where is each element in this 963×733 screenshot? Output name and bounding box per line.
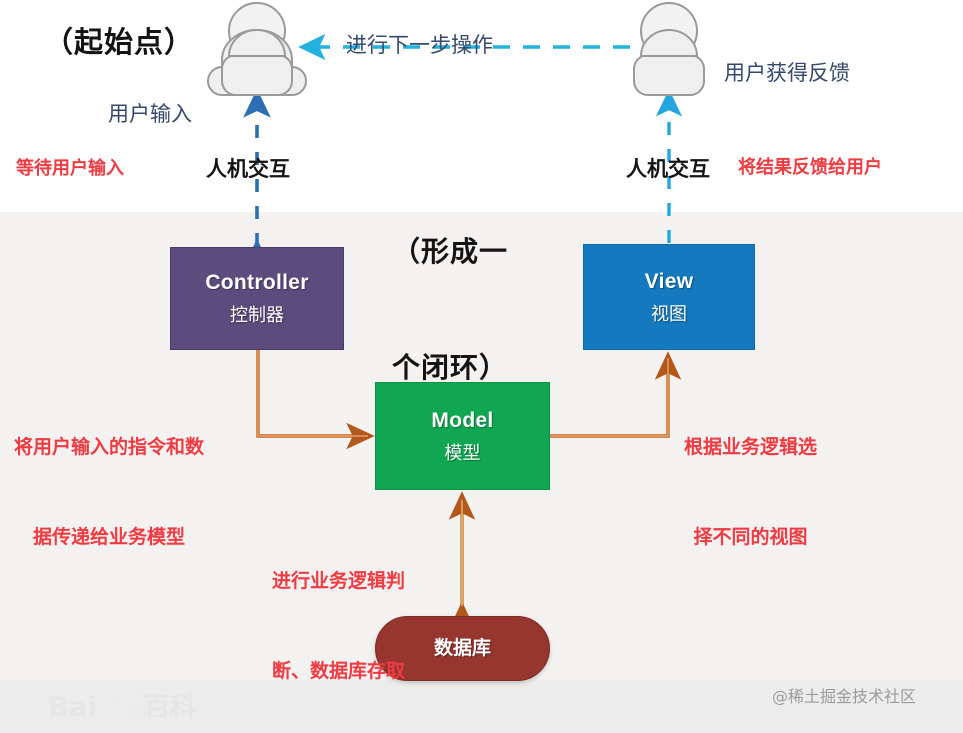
label-controller-to-model-line2: 据传递给业务模型	[14, 524, 204, 550]
node-controller[interactable]: Controller 控制器	[170, 247, 344, 350]
label-user-gets-feedback: 用户获得反馈	[724, 59, 850, 88]
baidu-baike-watermark: Bai 百科	[26, 664, 218, 733]
baidu-paw-icon: Bai 百科	[46, 686, 218, 730]
label-controller-to-model: 将用户输入的指令和数 据传递给业务模型	[14, 382, 204, 603]
database-label: 数据库	[434, 638, 491, 659]
view-subtitle: 视图	[651, 305, 687, 325]
svg-text:百科: 百科	[144, 693, 196, 723]
diagram-canvas: Controller 控制器 View 视图 Model 模型 数据库 （起始点…	[0, 0, 963, 733]
label-wait-for-user-input: 等待用户输入	[16, 157, 124, 182]
label-hci-right: 人机交互	[626, 155, 710, 184]
label-result-feedback-to-user: 将结果反馈给用户	[738, 156, 882, 181]
label-model-to-database: 进行业务逻辑判 断、数据库存取	[272, 516, 405, 733]
label-hci-left: 人机交互	[206, 155, 290, 184]
label-closed-loop: （形成一 个闭环）	[392, 156, 508, 465]
node-view[interactable]: View 视图	[583, 244, 755, 350]
controller-title: Controller	[205, 271, 308, 294]
label-next-step-operation: 进行下一步操作	[346, 31, 493, 60]
label-model-to-view-line2: 择不同的视图	[684, 524, 817, 550]
label-start-point: （起始点）	[44, 22, 194, 62]
controller-subtitle: 控制器	[230, 306, 284, 326]
view-title: View	[645, 270, 694, 293]
juejin-watermark: @稀土掘金技术社区	[772, 686, 916, 708]
label-user-input: 用户输入	[108, 100, 192, 129]
svg-text:Bai: Bai	[48, 692, 98, 723]
label-model-to-database-line1: 进行业务逻辑判	[272, 568, 405, 594]
label-controller-to-model-line1: 将用户输入的指令和数	[14, 434, 204, 460]
label-model-to-database-line2: 断、数据库存取	[272, 658, 405, 684]
label-model-to-view-line1: 根据业务逻辑选	[684, 434, 817, 460]
label-closed-loop-line2: 个闭环）	[392, 349, 508, 388]
label-closed-loop-line1: （形成一	[392, 233, 508, 272]
label-model-to-view: 根据业务逻辑选 择不同的视图	[684, 382, 817, 603]
